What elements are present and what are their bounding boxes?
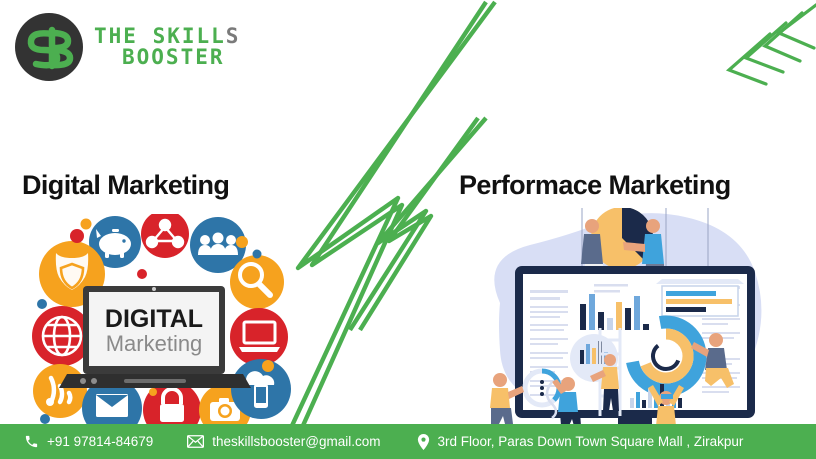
brand-name-line1-text: THE SKILL [94, 24, 226, 48]
brand-name-line1-tail: S [226, 24, 241, 48]
address-text: 3rd Floor, Paras Down Town Square Mall ,… [438, 434, 744, 449]
footer-email[interactable]: theskillsbooster@gmail.com [187, 434, 380, 449]
email-address: theskillsbooster@gmail.com [212, 434, 380, 449]
laptop-icon [230, 308, 288, 366]
laptop-screen-subtitle: Marketing [106, 331, 203, 356]
marketing-banner: THE SKILLS BOOSTER Digital Marketing Per… [0, 0, 816, 459]
brand-name-line1: THE SKILLS [94, 26, 240, 47]
laptop-device: DIGITAL Marketing [59, 286, 251, 388]
brand-name-line2: BOOSTER [122, 47, 240, 68]
footer-phone[interactable]: +91 97814-84679 [24, 434, 153, 449]
brand-name: THE SKILLS BOOSTER [94, 26, 240, 69]
location-pin-icon [417, 434, 430, 450]
digital-marketing-laptop-illustration: DIGITAL Marketing [20, 214, 292, 426]
footer-address[interactable]: 3rd Floor, Paras Down Town Square Mall ,… [417, 434, 744, 450]
phone-number: +91 97814-84679 [47, 434, 153, 449]
performance-marketing-dashboard-illustration [470, 208, 800, 426]
laptop-screen-title: DIGITAL [105, 305, 203, 333]
chevron-decoration [686, 0, 816, 100]
phone-icon [24, 434, 39, 449]
heading-digital-marketing: Digital Marketing [22, 170, 229, 201]
sb-monogram-icon [14, 12, 84, 82]
contact-footer: +91 97814-84679 theskillsbooster@gmail.c… [0, 424, 816, 459]
envelope-icon [187, 435, 204, 448]
brand-logo[interactable]: THE SKILLS BOOSTER [14, 12, 240, 82]
heading-performance-marketing: Performace Marketing [459, 170, 731, 201]
